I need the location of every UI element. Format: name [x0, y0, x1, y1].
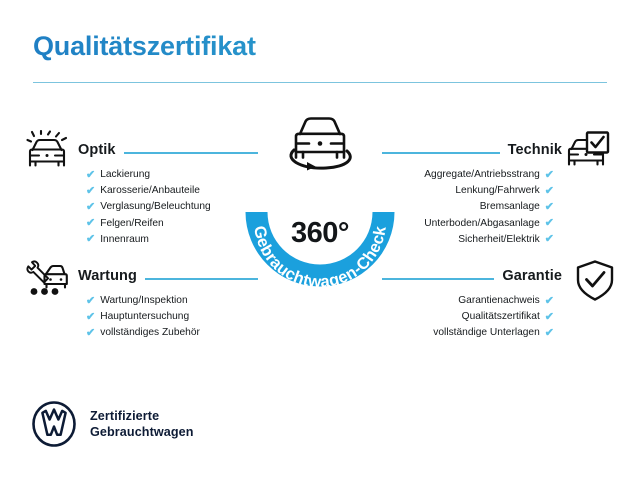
list-item-label: vollständiges Zubehör — [100, 325, 200, 341]
vw-logo-icon — [31, 401, 77, 447]
check-icon: ✔ — [545, 186, 554, 197]
vw-certified-footer: Zertifizierte Gebrauchtwagen — [31, 401, 194, 447]
check-icon: ✔ — [86, 234, 95, 245]
section-optik-title: Optik — [78, 142, 116, 158]
list-item-label: Garantienachweis — [458, 293, 540, 309]
list-item-label: Karosserie/Anbauteile — [100, 183, 200, 199]
check-icon: ✔ — [86, 202, 95, 213]
list-item-label: Qualitätszertifikat — [462, 309, 540, 325]
list-item-label: Verglasung/Beleuchtung — [100, 199, 210, 215]
list-item-label: Lackierung — [100, 167, 150, 183]
check-icon: ✔ — [86, 328, 95, 339]
car-checkbox-icon — [566, 130, 612, 176]
section-wartung-header: Wartung — [78, 268, 258, 284]
section-garantie-header: Garantie — [382, 268, 562, 284]
section-optik-header: Optik — [78, 142, 258, 158]
list-item: ✔Wartung/Inspektion — [86, 293, 258, 309]
list-item: ✔vollständiges Zubehör — [86, 325, 258, 341]
list-item: ✔Hauptuntersuchung — [86, 309, 258, 325]
list-item: vollständige Unterlagen✔ — [382, 325, 554, 341]
shield-check-icon — [572, 258, 618, 304]
vw-certified-line2: Gebrauchtwagen — [90, 424, 194, 441]
shiny-car-icon — [26, 130, 72, 176]
section-technik-header: Technik — [382, 142, 562, 158]
section-garantie-title: Garantie — [502, 268, 562, 284]
section-garantie-list: Garantienachweis✔ Qualitätszertifikat✔ v… — [382, 293, 554, 342]
list-item-label: Lenkung/Fahrwerk — [455, 183, 539, 199]
section-technik: Technik Aggregate/Antriebsstrang✔ Lenkun… — [382, 142, 562, 248]
check-icon: ✔ — [86, 186, 95, 197]
list-item-label: Sicherheit/Elektrik — [458, 232, 540, 248]
page-title: Qualitätszertifikat — [33, 32, 607, 62]
list-item-label: Wartung/Inspektion — [100, 293, 187, 309]
list-item-label: Innenraum — [100, 232, 149, 248]
badge-degrees-label: 360° — [232, 217, 408, 250]
check-icon: ✔ — [545, 170, 554, 181]
check-icon: ✔ — [86, 312, 95, 323]
check-icon: ✔ — [86, 170, 95, 181]
list-item-label: vollständige Unterlagen — [433, 325, 539, 341]
badge-360-gebrauchtwagen-check: Gebrauchtwagen-Check 360° — [232, 112, 408, 294]
section-wartung-title: Wartung — [78, 268, 137, 284]
check-icon: ✔ — [545, 218, 554, 229]
check-icon: ✔ — [86, 218, 95, 229]
check-icon: ✔ — [545, 202, 554, 213]
check-icon: ✔ — [545, 328, 554, 339]
wrench-car-icon — [24, 258, 70, 304]
certificate-page: Qualitätszertifikat — [0, 0, 640, 480]
check-icon: ✔ — [86, 296, 95, 307]
list-item-label: Hauptuntersuchung — [100, 309, 189, 325]
section-garantie: Garantie Garantienachweis✔ Qualitätszert… — [382, 268, 562, 342]
list-item: Garantienachweis✔ — [382, 293, 554, 309]
list-item-label: Aggregate/Antriebsstrang — [424, 167, 540, 183]
list-item-label: Felgen/Reifen — [100, 216, 163, 232]
section-wartung-list: ✔Wartung/Inspektion ✔Hauptuntersuchung ✔… — [86, 293, 258, 342]
list-item-label: Unterboden/Abgasanlage — [424, 216, 540, 232]
check-icon: ✔ — [545, 296, 554, 307]
check-icon: ✔ — [545, 234, 554, 245]
list-item: Qualitätszertifikat✔ — [382, 309, 554, 325]
vw-certified-line1: Zertifizierte — [90, 408, 194, 425]
section-optik: Optik ✔Lackierung ✔Karosserie/Anbauteile… — [78, 142, 258, 248]
check-icon: ✔ — [545, 312, 554, 323]
vw-certified-text: Zertifizierte Gebrauchtwagen — [90, 408, 194, 441]
section-wartung: Wartung ✔Wartung/Inspektion ✔Hauptunters… — [78, 268, 258, 342]
section-technik-title: Technik — [508, 142, 562, 158]
list-item-label: Bremsanlage — [480, 199, 540, 215]
header-divider — [33, 82, 607, 84]
header: Qualitätszertifikat — [33, 32, 607, 83]
